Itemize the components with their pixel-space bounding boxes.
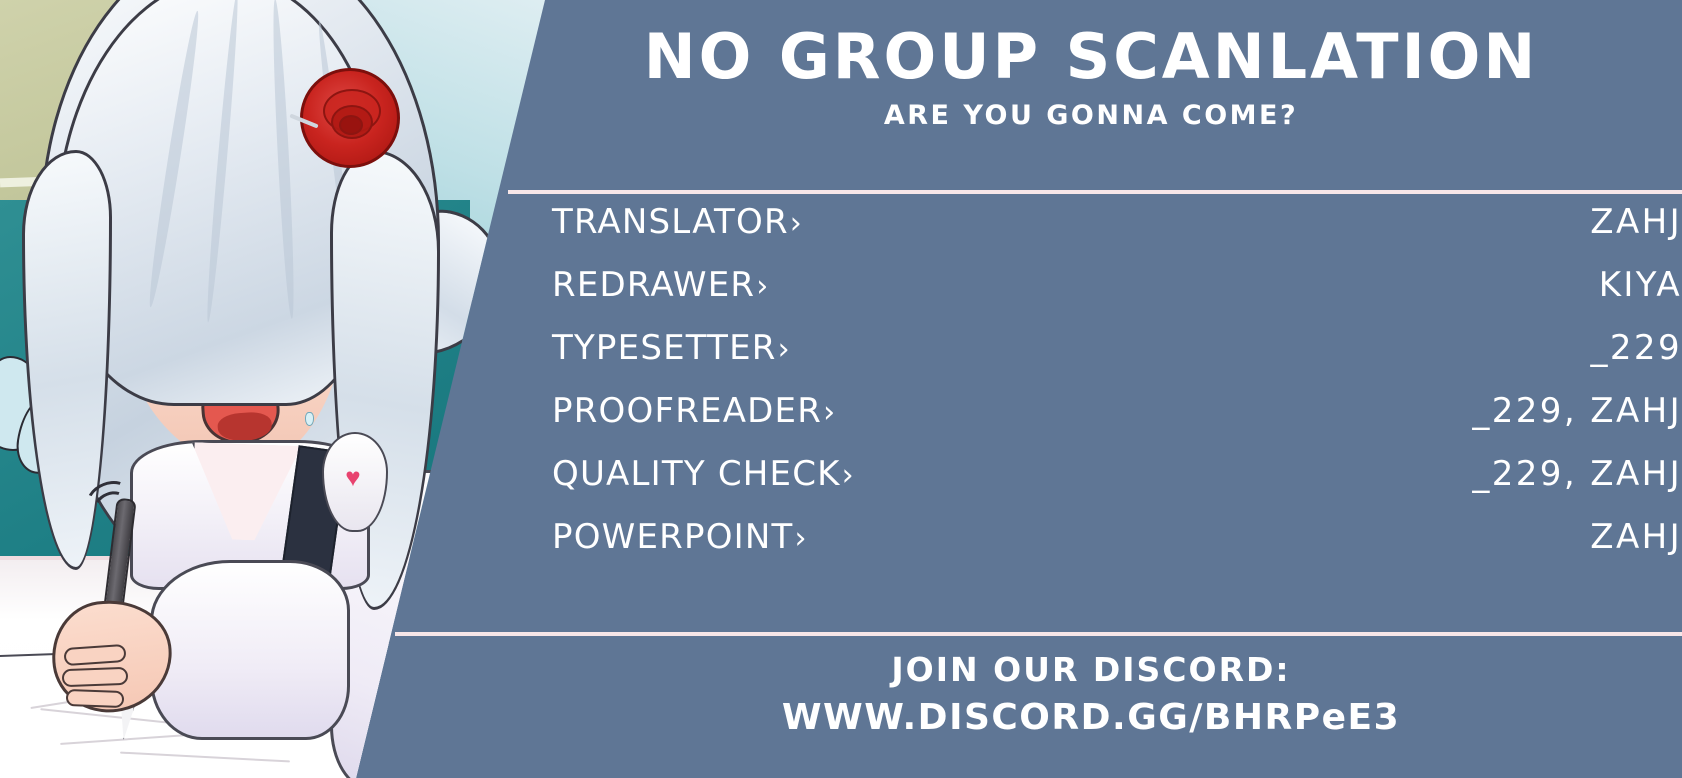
page-subtitle: ARE YOU GONNA COME? xyxy=(500,100,1682,131)
credits-list: TRANSLATOR› ZAHJ REDRAWER› KIYA TYPESETT… xyxy=(552,202,1682,580)
credit-role-text: POWERPOINT xyxy=(552,517,793,557)
uniform-sleeve xyxy=(150,560,350,740)
illustration-stage: ♥ xyxy=(0,0,560,778)
credit-row-proofreader: PROOFREADER› _229, ZAHJ xyxy=(552,391,1682,454)
credit-role-text: REDRAWER xyxy=(552,265,755,305)
credit-person-name: KIYA xyxy=(1599,265,1682,305)
footer-block: JOIN OUR DISCORD: WWW.DISCORD.GG/BHRPeE3 xyxy=(500,650,1682,738)
divider-top xyxy=(508,190,1682,194)
chevron-right-icon: › xyxy=(778,332,791,367)
credit-role-label: PROOFREADER› xyxy=(552,391,836,431)
chevron-right-icon: › xyxy=(794,521,807,556)
credit-role-text: PROOFREADER xyxy=(552,391,822,431)
credit-row-typesetter: TYPESETTER› _229 xyxy=(552,328,1682,391)
hair-strand xyxy=(204,0,242,323)
chevron-right-icon: › xyxy=(823,395,836,430)
credit-row-translator: TRANSLATOR› ZAHJ xyxy=(552,202,1682,265)
chevron-right-icon: › xyxy=(756,269,769,304)
finger xyxy=(66,689,125,708)
credit-person-name: _229, ZAHJ xyxy=(1472,454,1682,494)
page-title: NO GROUP SCANLATION xyxy=(500,24,1682,90)
credit-person-name: ZAHJ xyxy=(1590,202,1682,242)
heart-icon: ♥ xyxy=(340,466,366,490)
illustration-panel: ♥ xyxy=(0,0,560,778)
credit-person-name: ZAHJ xyxy=(1590,517,1682,557)
credits-panel: NO GROUP SCANLATION ARE YOU GONNA COME? … xyxy=(500,0,1682,778)
credit-role-text: TYPESETTER xyxy=(552,328,777,368)
credit-person-name: _229, ZAHJ xyxy=(1472,391,1682,431)
credit-row-quality-check: QUALITY CHECK› _229, ZAHJ xyxy=(552,454,1682,517)
credit-person-name: _229 xyxy=(1591,328,1682,368)
credit-role-label: POWERPOINT› xyxy=(552,517,808,557)
discord-invite-link[interactable]: WWW.DISCORD.GG/BHRPeE3 xyxy=(500,697,1682,738)
chevron-right-icon: › xyxy=(790,206,803,241)
credit-row-powerpoint: POWERPOINT› ZAHJ xyxy=(552,517,1682,580)
header-block: NO GROUP SCANLATION ARE YOU GONNA COME? xyxy=(500,24,1682,131)
rose-petal xyxy=(339,115,363,135)
hair-strand xyxy=(145,10,204,308)
chevron-right-icon: › xyxy=(842,458,855,493)
credit-role-text: TRANSLATOR xyxy=(552,202,789,242)
credit-role-label: TYPESETTER› xyxy=(552,328,791,368)
hair-strand xyxy=(270,0,298,319)
credit-role-label: REDRAWER› xyxy=(552,265,769,305)
credit-row-redrawer: REDRAWER› KIYA xyxy=(552,265,1682,328)
rose-hair-ornament-icon xyxy=(300,68,400,168)
discord-join-label: JOIN OUR DISCORD: xyxy=(500,650,1682,689)
divider-bottom xyxy=(395,632,1682,636)
finger xyxy=(62,667,129,687)
credit-role-text: QUALITY CHECK xyxy=(552,454,841,494)
scanlation-credits-page: ♥ NO GROUP SCANLATION ARE YOU GONNA COME… xyxy=(0,0,1682,778)
credit-role-label: TRANSLATOR› xyxy=(552,202,803,242)
credit-role-label: QUALITY CHECK› xyxy=(552,454,855,494)
sweat-drop-icon xyxy=(305,412,314,426)
